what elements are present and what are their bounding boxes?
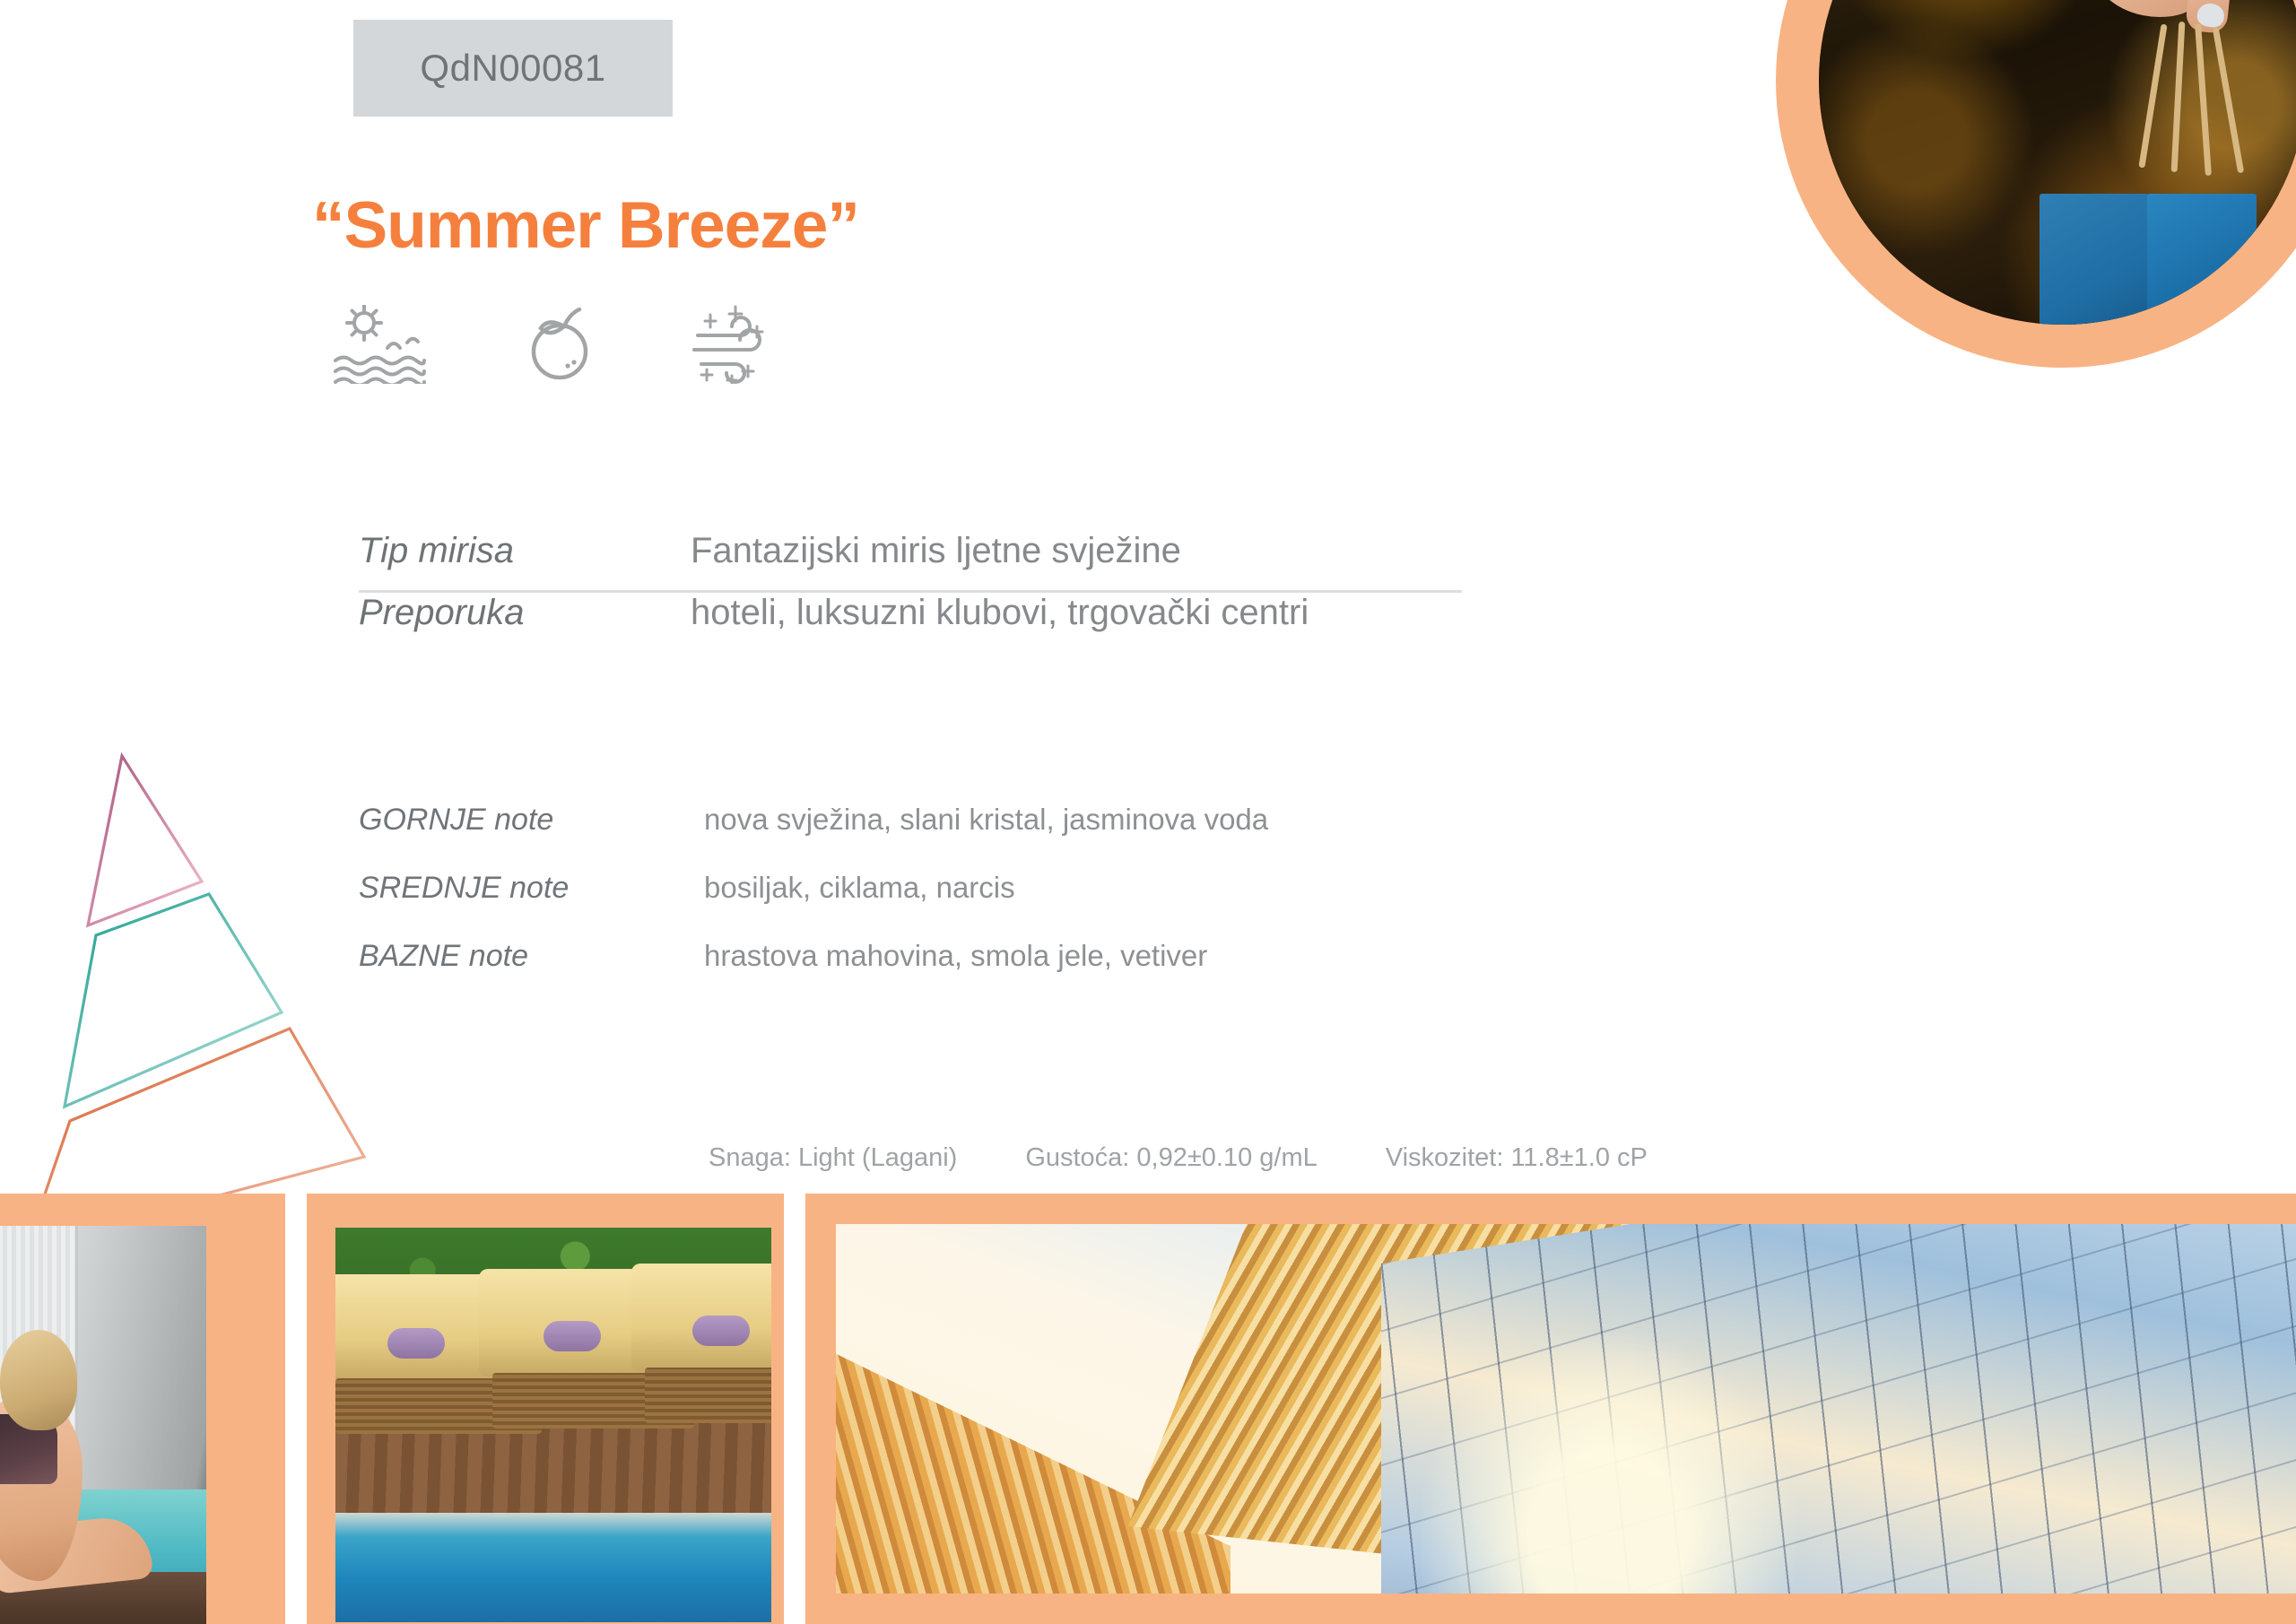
fragrance-pyramid-graphic (18, 735, 448, 1246)
specification-line: Snaga: Light (Lagani) Gustoća: 0,92±0.10… (709, 1143, 1648, 1173)
spec-strength: Snaga: Light (Lagani) (709, 1143, 957, 1173)
pyramid-tier-top (88, 756, 202, 925)
pool-loungers-photo (307, 1194, 784, 1624)
list-item: BAZNE note hrastova mahovina, smola jele… (359, 939, 1480, 1007)
towel (544, 1321, 601, 1351)
poolside-woman-photo (0, 1194, 285, 1624)
table-row: Preporuka hoteli, luksuzni klubovi, trgo… (359, 593, 1462, 652)
attributes-table: Tip mirisa Fantazijski miris ljetne svje… (359, 531, 1462, 652)
bottom-photo-strip (0, 1194, 2296, 1624)
spec-viscosity: Viskozitet: 11.8±1.0 cP (1386, 1143, 1648, 1173)
shopping-bag (2039, 194, 2149, 325)
code-badge-text: QdN00081 (420, 47, 605, 90)
wind-breeze-icon (692, 305, 778, 384)
note-value: nova svježina, slani kristal, jasminova … (704, 803, 1268, 837)
hair-shape (0, 1330, 77, 1430)
shopping-bag (2147, 194, 2257, 325)
towel (387, 1328, 445, 1359)
spec-density: Gustoća: 0,92±0.10 g/mL (1025, 1143, 1317, 1173)
attribute-label: Preporuka (359, 593, 691, 633)
attribute-value: hoteli, luksuzni klubovi, trgovački cent… (691, 593, 1309, 633)
sun-glow (1420, 1333, 1796, 1594)
note-value: hrastova mahovina, smola jele, vetiver (704, 939, 1207, 973)
modern-architecture-photo (805, 1194, 2296, 1624)
list-item: SREDNJE note bosiljak, ciklama, narcis (359, 871, 1480, 939)
table-row: Tip mirisa Fantazijski miris ljetne svje… (359, 531, 1462, 593)
fragrance-icon-row (332, 305, 778, 384)
code-badge: QdN00081 (353, 20, 673, 117)
hero-photo-circle (1776, 0, 2296, 368)
fragrance-notes-list: GORNJE note nova svježina, slani kristal… (359, 803, 1480, 1007)
note-value: bosiljak, ciklama, narcis (704, 871, 1015, 905)
shopping-bags-photo (1819, 0, 2296, 325)
towel (692, 1316, 750, 1346)
pool-water (335, 1513, 771, 1622)
lounger-base (645, 1368, 771, 1423)
attribute-value: Fantazijski miris ljetne svježine (691, 531, 1181, 571)
pyramid-tier-middle (65, 894, 282, 1107)
photo-inner (836, 1224, 2296, 1594)
photo-inner (335, 1228, 771, 1622)
list-item: GORNJE note nova svježina, slani kristal… (359, 803, 1480, 871)
photo-inner (0, 1226, 206, 1624)
citrus-fruit-icon (527, 305, 594, 384)
attribute-label: Tip mirisa (359, 531, 691, 571)
page-title: “Summer Breeze” (312, 188, 859, 263)
sun-sea-icon (332, 305, 429, 384)
